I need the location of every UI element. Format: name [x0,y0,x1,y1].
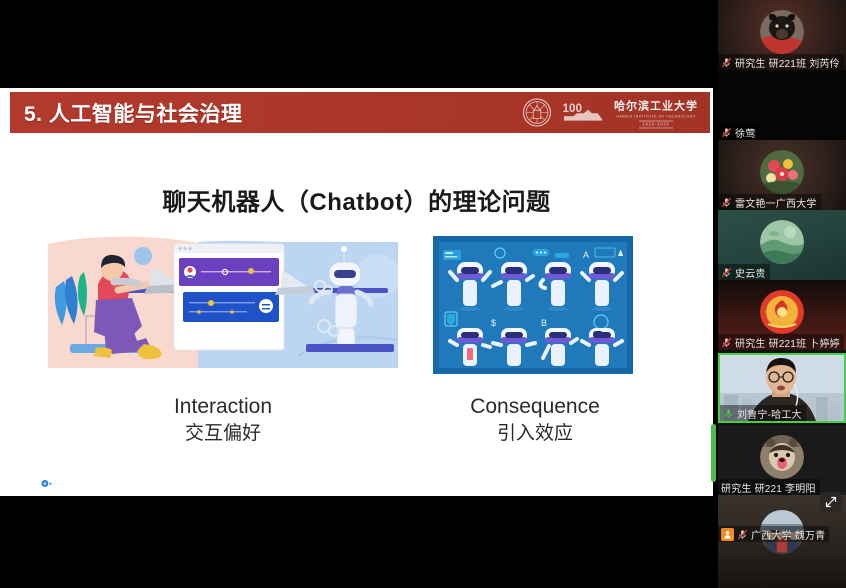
participant-name: 研究生 研221 李明阳 [721,480,816,495]
slide-title-banner: 5. 人工智能与社会治理 100 [10,92,710,133]
participant-name: 广西大学 魏万青 [751,527,825,542]
microphone-muted-icon [721,337,732,348]
participant-name-bar: 雷文艳一广西大学 [718,194,821,210]
zoom-meeting-window: 5. 人工智能与社会治理 100 [0,0,846,588]
caption-consequence-en: Consequence [430,394,640,421]
participant-tile[interactable]: 雷文艳一广西大学 [718,140,846,210]
university-name: 哈尔滨工业大学 HARBIN INSTITUTE OF TECHNOLOGY 1… [614,97,698,128]
university-name-en: HARBIN INSTITUTE OF TECHNOLOGY [616,114,696,118]
university-logo-group: 100 哈尔滨工业大学 HARBIN INSTITUTE OF TECHNOLO… [522,97,698,128]
university-name-cn: 哈尔滨工业大学 [614,97,698,113]
figure-interaction-illustration [48,236,398,376]
participant-tile[interactable]: 研究生 研221班 卜婷婷 [718,280,846,350]
participant-strip[interactable]: 研究生 研221班 刘芮伶 徐莺 [718,0,846,588]
participant-name: 史云贵 [735,265,766,280]
caption-interaction-en: Interaction [118,394,328,421]
host-badge-icon [721,528,734,541]
participant-tile[interactable]: 研究生 研221班 刘芮伶 [718,0,846,70]
svg-text:A: A [583,250,589,260]
participant-tile-active-speaker[interactable]: 刘鲁宁-哈工大 [718,353,846,423]
participant-tile[interactable]: 研究生 研221 李明阳 [718,425,846,495]
shared-screen-stage[interactable]: 5. 人工智能与社会治理 100 [0,0,718,588]
participant-name-bar: 研究生 研221 李明阳 [718,479,820,495]
avatar [760,290,804,334]
participant-name: 雷文艳一广西大学 [735,195,817,210]
participant-name: 研究生 研221班 卜婷婷 [735,335,840,350]
slide-headline: 聊天机器人（Chatbot）的理论问题 [0,182,713,217]
participant-name-bar: 刘鲁宁-哈工大 [720,405,806,421]
avatar [760,435,804,479]
avatar [760,220,804,264]
svg-text:B: B [541,318,547,328]
figure-consequence-illustration: A ♟ $ B [433,236,633,374]
slide-section-title: 5. 人工智能与社会治理 [24,98,242,128]
university-years: 1920-2020 [639,120,672,128]
shared-content-scrollbar[interactable] [711,424,716,482]
slide-figures: A ♟ $ B [0,236,713,386]
participant-name: 刘鲁宁-哈工大 [737,406,802,421]
participant-name-bar: 研究生 研221班 刘芮伶 [718,54,844,70]
participant-name-bar: 史云贵 [718,264,770,280]
participant-name: 徐莺 [735,125,755,140]
participant-tile[interactable]: 徐莺 [718,70,846,140]
microphone-muted-icon [721,267,732,278]
svg-text:♟: ♟ [617,249,624,258]
resize-popout-icon[interactable] [820,492,842,512]
avatar [760,10,804,54]
participant-name: 研究生 研221班 刘芮伶 [735,55,840,70]
microphone-muted-icon [737,529,748,540]
hit-crest-icon [522,98,552,128]
participant-tile[interactable]: 史云贵 [718,210,846,280]
microphone-muted-icon [721,197,732,208]
microphone-muted-icon [721,57,732,68]
svg-text:100: 100 [562,102,582,115]
microphone-muted-icon [721,127,732,138]
participant-name-bar: 徐莺 [718,124,759,140]
participant-name-bar: 研究生 研221班 卜婷婷 [718,334,844,350]
presentation-slide: 5. 人工智能与社会治理 100 [0,88,713,496]
caption-consequence-cn: 引入效应 [430,421,640,446]
participant-name-bar: 广西大学 魏万青 [718,526,829,542]
caption-consequence: Consequence 引入效应 [430,394,640,446]
svg-text:$: $ [491,318,496,328]
avatar [760,150,804,194]
hit-100-anniversary-icon: 100 [561,100,605,126]
blue-dot-icon [40,478,53,489]
caption-interaction-cn: 交互偏好 [118,421,328,446]
microphone-unmuted-icon [723,408,734,419]
caption-interaction: Interaction 交互偏好 [118,394,328,446]
